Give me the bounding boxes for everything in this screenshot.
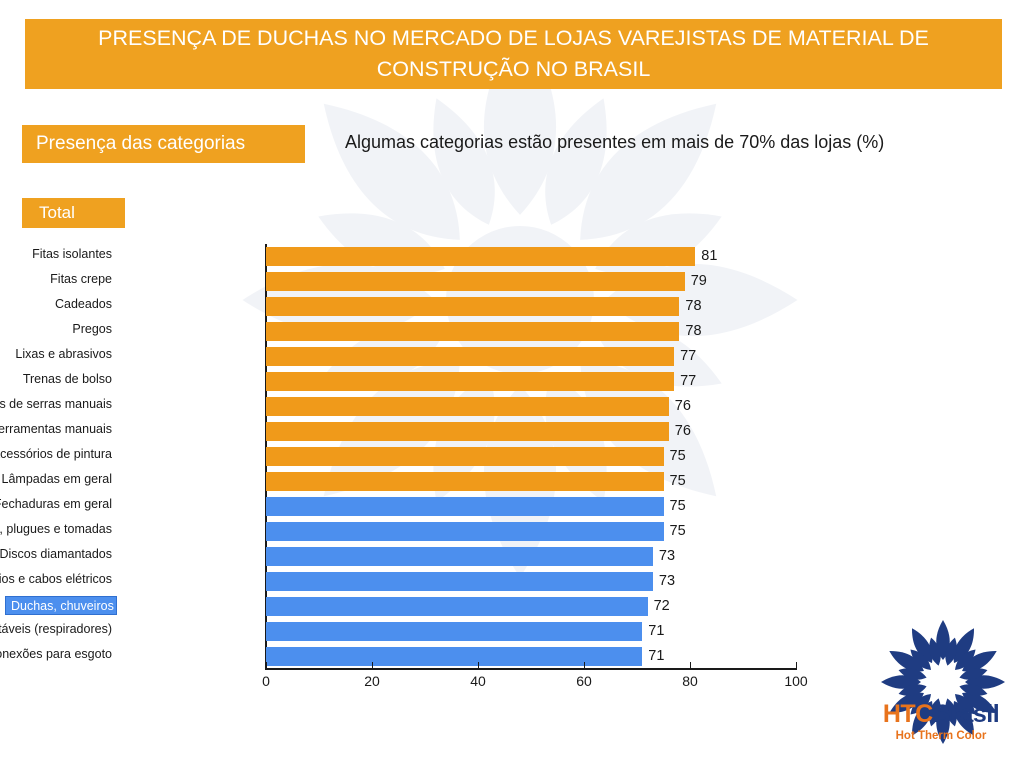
bar-row: Discos diamantados73 — [0, 544, 880, 569]
bar-category-label: Lixas e abrasivos — [0, 347, 118, 361]
bar-blue — [266, 597, 648, 616]
bar-category-label: Pregos — [0, 322, 118, 336]
bar-category-label: Fitas crepe — [0, 272, 118, 286]
bar-category-label: Fios e cabos elétricos — [0, 572, 118, 586]
series-tag-total: Total — [22, 198, 125, 228]
bar-value-label: 71 — [648, 647, 664, 666]
bar-value-label: 75 — [670, 522, 686, 541]
bar-blue — [266, 572, 653, 591]
x-axis-tick — [584, 662, 585, 670]
bar-category-label: Máscaras descartáveis (respiradores) — [0, 622, 118, 636]
bar-value-label: 75 — [670, 497, 686, 516]
bar-value-label: 75 — [670, 447, 686, 466]
bar-category-label: Interruptores, plugues e tomadas — [0, 522, 118, 536]
bar-value-label: 77 — [680, 347, 696, 366]
bar-row: Lâminas de serras manuais76 — [0, 394, 880, 419]
bar-row: Cadeados78 — [0, 294, 880, 319]
bar-row: Tubos e conexões para esgoto71 — [0, 644, 880, 669]
htc-brasil-logo-text: HTCBrasil Hot Therm Color — [868, 700, 1014, 742]
x-axis-tick-label: 60 — [576, 673, 592, 689]
x-axis-tick-label: 40 — [470, 673, 486, 689]
x-axis-tick — [478, 662, 479, 670]
bar-value-label: 75 — [670, 472, 686, 491]
bar-orange — [266, 272, 685, 291]
bar-value-label: 71 — [648, 622, 664, 641]
bar-orange — [266, 247, 695, 266]
x-axis-tick — [690, 662, 691, 670]
bar-row: Interruptores, plugues e tomadas75 — [0, 519, 880, 544]
bar-category-label: Ferramentas manuais — [0, 422, 118, 436]
bar-value-label: 76 — [675, 422, 691, 441]
bar-category-label: Lâminas de serras manuais — [0, 397, 118, 411]
bar-row: Lixas e abrasivos77 — [0, 344, 880, 369]
bar-orange — [266, 322, 679, 341]
bar-orange — [266, 397, 669, 416]
logo-name-brasil: Brasil — [933, 700, 999, 728]
bar-orange — [266, 422, 669, 441]
x-axis-tick — [372, 662, 373, 670]
bar-value-label: 81 — [701, 247, 717, 266]
logo-name-htc: HTC — [883, 700, 933, 728]
bar-blue — [266, 497, 664, 516]
bar-row: Ferramentas manuais76 — [0, 419, 880, 444]
bar-orange — [266, 347, 674, 366]
section-tag: Presença das categorias — [22, 125, 305, 163]
bar-blue — [266, 522, 664, 541]
bar-value-label: 76 — [675, 397, 691, 416]
bar-value-label: 73 — [659, 572, 675, 591]
bar-row: Trenas de bolso77 — [0, 369, 880, 394]
bar-category-label: Trenas de bolso — [0, 372, 118, 386]
bar-value-label: 78 — [685, 297, 701, 316]
bar-category-label: Lâmpadas em geral — [0, 472, 118, 486]
bar-orange — [266, 447, 664, 466]
bar-orange — [266, 297, 679, 316]
bar-row: Fechaduras em geral75 — [0, 494, 880, 519]
page-title: PRESENÇA DE DUCHAS NO MERCADO DE LOJAS V… — [98, 26, 929, 81]
bar-row: Fitas crepe79 — [0, 269, 880, 294]
bar-value-label: 79 — [691, 272, 707, 291]
x-axis-tick-label: 0 — [262, 673, 270, 689]
bar-row: Fitas isolantes81 — [0, 244, 880, 269]
bar-value-label: 72 — [654, 597, 670, 616]
bar-row: Duchas, chuveiros e torneiras elétricas7… — [0, 594, 880, 619]
bar-value-label: 77 — [680, 372, 696, 391]
bar-category-label: Discos diamantados — [0, 547, 118, 561]
bar-category-label: Duchas, chuveiros e torneiras elétricas — [5, 596, 117, 615]
bar-row: Máscaras descartáveis (respiradores)71 — [0, 619, 880, 644]
series-tag-label: Total — [39, 203, 75, 222]
bar-row: Pincéis, rolos e acessórios de pintura75 — [0, 444, 880, 469]
x-axis-tick — [266, 662, 267, 670]
bar-category-label: Cadeados — [0, 297, 118, 311]
x-axis-tick-label: 100 — [784, 673, 807, 689]
bar-orange — [266, 372, 674, 391]
x-axis-tick-label: 80 — [682, 673, 698, 689]
bar-blue — [266, 622, 642, 641]
page-title-banner: PRESENÇA DE DUCHAS NO MERCADO DE LOJAS V… — [25, 19, 1002, 89]
logo-tagline: Hot Therm Color — [868, 730, 1014, 742]
bar-value-label: 78 — [685, 322, 701, 341]
bar-category-label: Tubos e conexões para esgoto — [0, 647, 118, 661]
x-axis-tick-label: 20 — [364, 673, 380, 689]
bar-category-label: Pincéis, rolos e acessórios de pintura — [0, 447, 118, 461]
bar-row: Fios e cabos elétricos73 — [0, 569, 880, 594]
section-tag-label: Presença das categorias — [36, 133, 245, 154]
bar-blue — [266, 547, 653, 566]
bar-orange — [266, 472, 664, 491]
bar-category-label: Fitas isolantes — [0, 247, 118, 261]
bar-row: Pregos78 — [0, 319, 880, 344]
bar-blue — [266, 647, 642, 666]
bar-row: Lâmpadas em geral75 — [0, 469, 880, 494]
chart-subtitle: Algumas categorias estão presentes em ma… — [345, 132, 884, 153]
bar-value-label: 73 — [659, 547, 675, 566]
bar-category-label: Fechaduras em geral — [0, 497, 118, 511]
x-axis-tick — [796, 662, 797, 670]
